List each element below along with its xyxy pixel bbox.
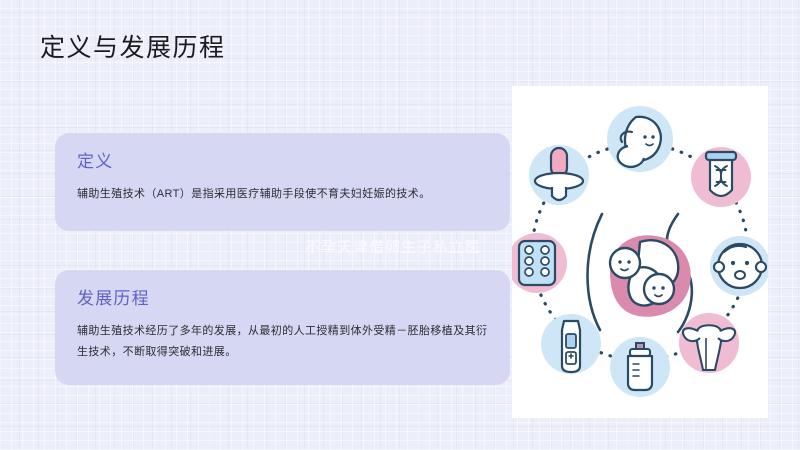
- card-definition-heading: 定义: [77, 151, 488, 173]
- pregnancy-test-icon: [541, 314, 601, 374]
- baby-face-icon: [710, 236, 768, 296]
- fetus-icon: [607, 106, 673, 172]
- twins-in-womb-icon: [610, 235, 691, 317]
- page-title: 定义与发展历程: [40, 32, 226, 64]
- slide: 定义与发展历程 定义 辅助生殖技术（ART）是指采用医疗辅助手段使不育夫妇妊娠的…: [0, 0, 800, 450]
- baby-bottle-icon: [610, 337, 670, 397]
- card-history-heading: 发展历程: [77, 288, 488, 310]
- pill-blister-icon: [512, 233, 567, 293]
- card-definition: 定义 辅助生殖技术（ART）是指采用医疗辅助手段使不育夫妇妊娠的技术。: [55, 133, 510, 231]
- dna-test-tube-icon: [691, 147, 751, 207]
- pacifier-icon: [529, 145, 589, 205]
- card-history-body: 辅助生殖技术经历了多年的发展，从最初的人工授精到体外受精－胚胎移植及其衍生技术，…: [77, 321, 488, 363]
- card-definition-body: 辅助生殖技术（ART）是指采用医疗辅助手段使不育夫妇妊娠的技术。: [77, 184, 488, 205]
- uterus-icon: [679, 313, 739, 373]
- fertility-illustration: [512, 86, 768, 418]
- card-history: 发展历程 辅助生殖技术经历了多年的发展，从最初的人工授精到体外受精－胚胎移植及其…: [55, 270, 510, 385]
- illustration-panel: [512, 86, 768, 418]
- watermark-text: 不孕天津借卵生子私立医: [305, 238, 520, 258]
